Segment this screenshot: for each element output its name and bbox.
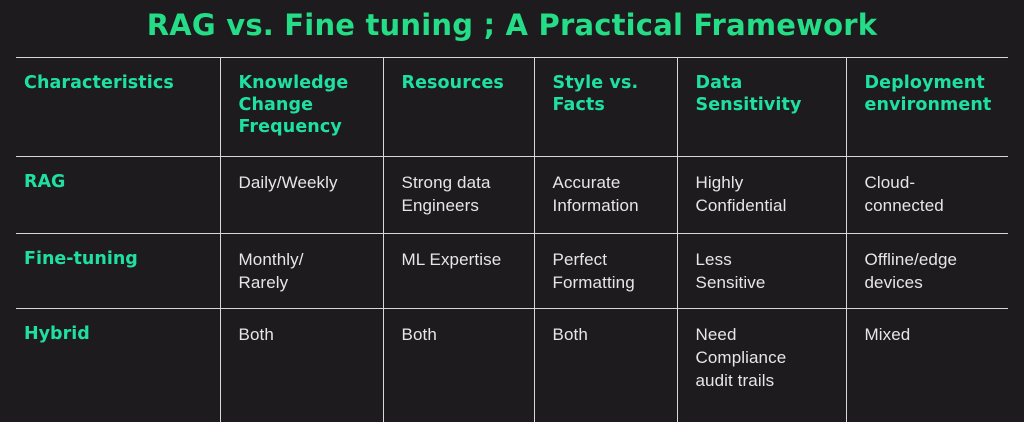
table-row: RAG Daily/Weekly Strong data Engineers A… [16,157,1008,234]
cell-line: Both [239,323,367,346]
row-label: Hybrid [24,323,204,345]
cell-line: Engineers [402,194,518,217]
cell-line: Both [553,323,661,346]
cell-text: Mixed [865,323,993,346]
slide-canvas: RAG vs. Fine tuning ; A Practical Framew… [0,0,1024,416]
cell-text: Both [239,323,367,346]
table-cell: Perfect Formatting [534,234,677,309]
cell-line: Mixed [865,323,993,346]
header-text: Knowledge Change Frequency [239,72,367,138]
table-cell: Less Sensitive [677,234,846,309]
cell-line: Information [553,194,661,217]
cell-text: Strong data Engineers [402,171,518,217]
cell-line: Perfect [553,248,661,271]
table-cell: Cloud- connected [846,157,1008,234]
header-line: Facts [553,94,661,116]
table-cell: Daily/Weekly [220,157,383,234]
header-line: Sensitivity [696,94,830,116]
table-header-cell-knowledge-change-frequency: Knowledge Change Frequency [220,58,383,157]
cell-text: Offline/edge devices [865,248,993,294]
row-label: Fine-tuning [24,248,204,270]
cell-line: devices [865,271,993,294]
row-label-cell-hybrid: Hybrid [16,309,220,422]
cell-line: Daily/Weekly [239,171,367,194]
row-label: RAG [24,171,204,193]
cell-text: Both [553,323,661,346]
cell-line: Sensitive [696,271,830,294]
cell-text: Accurate Information [553,171,661,217]
cell-line: Confidential [696,194,830,217]
cell-text: Daily/Weekly [239,171,367,194]
table-cell: Accurate Information [534,157,677,234]
cell-line: Strong data [402,171,518,194]
table-cell: Both [220,309,383,422]
cell-line: Rarely [239,271,367,294]
header-text: Resources [402,72,518,94]
table-cell: Both [383,309,534,422]
cell-line: Highly [696,171,830,194]
header-line: Frequency [239,116,367,138]
header-text: Characteristics [24,72,204,94]
header-line: Characteristics [24,72,204,94]
cell-text: Monthly/ Rarely [239,248,367,294]
cell-line: Monthly/ [239,248,367,271]
cell-line: Need [696,323,830,346]
header-line: Knowledge [239,72,367,94]
table-cell: Monthly/ Rarely [220,234,383,309]
header-text: Data Sensitivity [696,72,830,116]
cell-line: Accurate [553,171,661,194]
table-header-cell-resources: Resources [383,58,534,157]
page-title: RAG vs. Fine tuning ; A Practical Framew… [0,6,1024,44]
header-text: Deployment environment [865,72,993,116]
header-line: Deployment [865,72,993,94]
comparison-table: Characteristics Knowledge Change Frequen… [16,57,1008,422]
cell-text: Both [402,323,518,346]
table-header-row: Characteristics Knowledge Change Frequen… [16,58,1008,157]
table-cell: Mixed [846,309,1008,422]
table-cell: Highly Confidential [677,157,846,234]
cell-text: Need Compliance audit trails [696,323,830,392]
cell-line: Both [402,323,518,346]
header-line: Style vs. [553,72,661,94]
cell-line: connected [865,194,993,217]
cell-line: Cloud- [865,171,993,194]
row-label-cell-rag: RAG [16,157,220,234]
header-text: Style vs. Facts [553,72,661,116]
table-row: Fine-tuning Monthly/ Rarely ML Expertise… [16,234,1008,309]
table-cell: Both [534,309,677,422]
cell-line: ML Expertise [402,248,518,271]
header-line: Data [696,72,830,94]
table-cell: ML Expertise [383,234,534,309]
header-line: Change [239,94,367,116]
table-header-cell-characteristics: Characteristics [16,58,220,157]
cell-line: Compliance [696,346,830,369]
table-cell: Need Compliance audit trails [677,309,846,422]
table-header-cell-style-vs-facts: Style vs. Facts [534,58,677,157]
cell-text: Perfect Formatting [553,248,661,294]
table-cell: Offline/edge devices [846,234,1008,309]
table-row: Hybrid Both Both Both [16,309,1008,422]
table-cell: Strong data Engineers [383,157,534,234]
cell-line: audit trails [696,369,830,392]
cell-text: Highly Confidential [696,171,830,217]
table-header-cell-deployment-environment: Deployment environment [846,58,1008,157]
cell-line: Offline/edge [865,248,993,271]
cell-line: Formatting [553,271,661,294]
cell-text: Less Sensitive [696,248,830,294]
cell-line: Less [696,248,830,271]
table-header-cell-data-sensitivity: Data Sensitivity [677,58,846,157]
header-line: Resources [402,72,518,94]
cell-text: Cloud- connected [865,171,993,217]
cell-text: ML Expertise [402,248,518,271]
header-line: environment [865,94,993,116]
row-label-cell-fine-tuning: Fine-tuning [16,234,220,309]
